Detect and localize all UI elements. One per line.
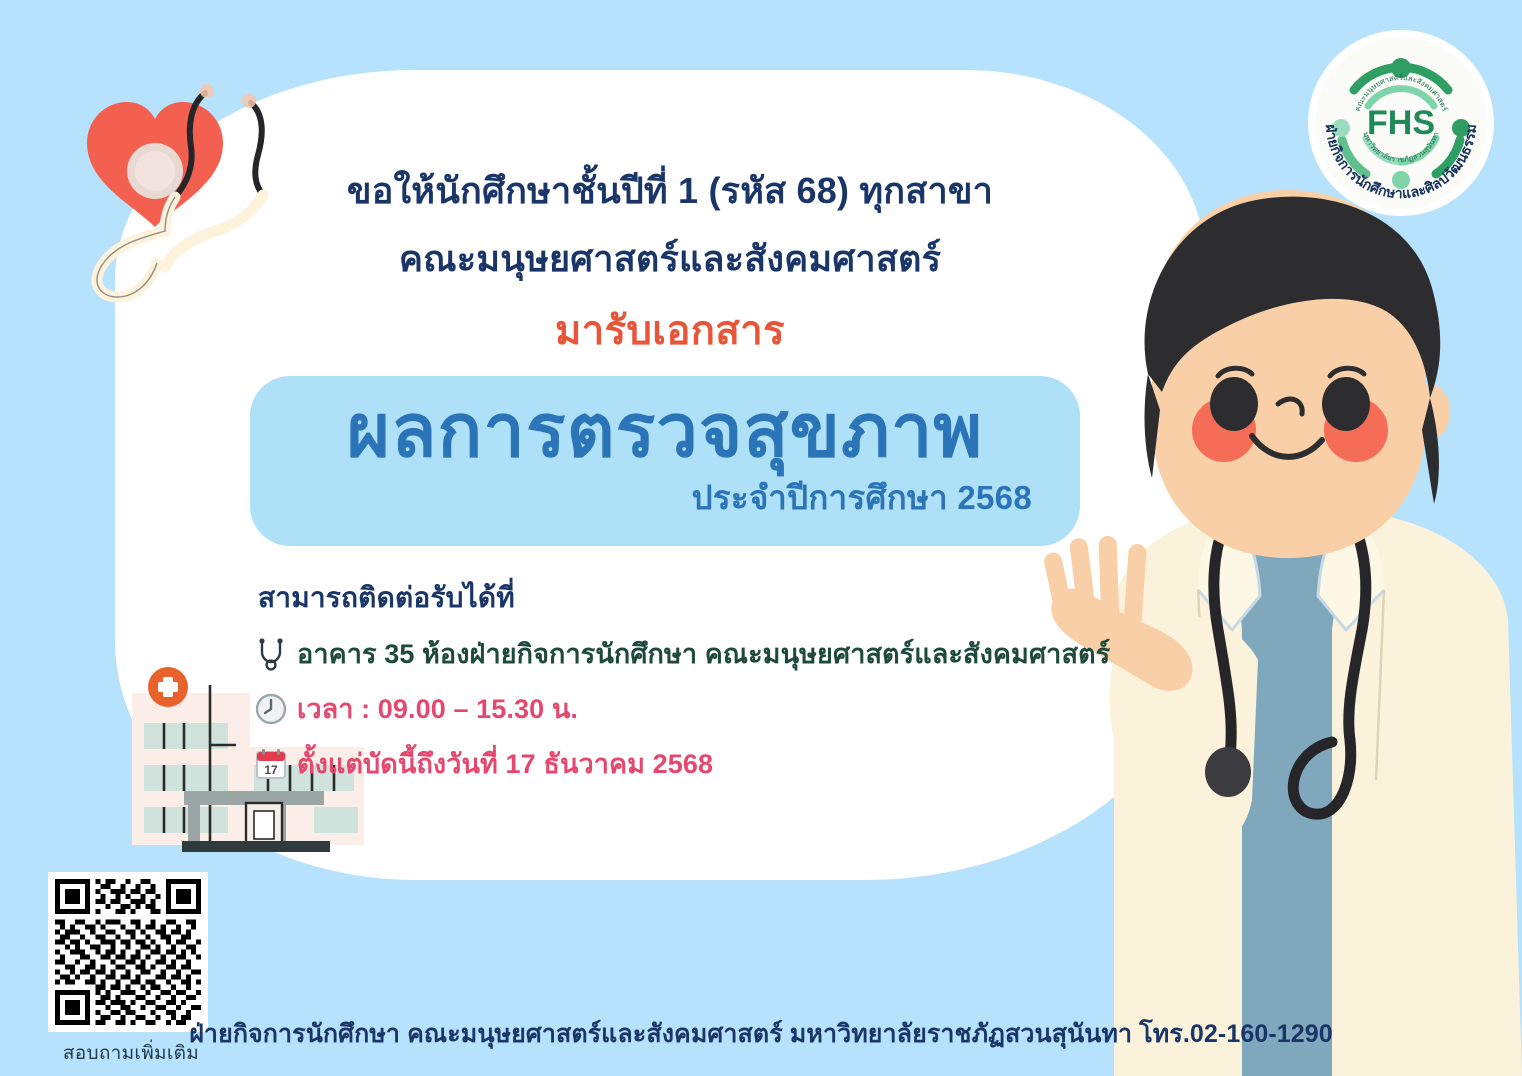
stethoscope-icon [254,637,288,671]
clock-icon [254,692,288,726]
info-time-text: เวลา : 09.00 – 15.30 น. [297,687,578,730]
footer-text: ฝ่ายกิจการนักศึกษา คณะมนุษยศาสตร์และสังค… [189,1014,1333,1054]
info-row-time: เวลา : 09.00 – 15.30 น. [250,687,1090,730]
info-row-venue: อาคาร 35 ห้องฝ่ายกิจการนักศึกษา คณะมนุษย… [250,632,1090,675]
headline-line-1: ขอให้นักศึกษาชั้นปีที่ 1 (รหัส 68) ทุกสา… [250,168,1090,214]
info-date-text: ตั้งแต่บัดนี้ถึงวันที่ 17 ธันวาคม 2568 [297,742,713,785]
info-venue-text: อาคาร 35 ห้องฝ่ายกิจการนักศึกษา คณะมนุษย… [297,632,1110,675]
headline-line-2: คณะมนุษยศาสตร์และสังคมศาสตร์ [250,236,1090,282]
calendar-icon: 17 [254,747,288,781]
headline-line-3: มารับเอกสาร [250,298,1090,362]
contact-heading: สามารถติดต่อรับได้ที่ [250,576,1090,620]
highlight-pill: ผลการตรวจสุขภาพ ประจำปีการศึกษา 2568 [250,376,1080,546]
fhs-logo: FHS คณะมนุษยศาสตร์และสังคมศาสตร์ มหาวิทย… [1306,28,1496,218]
poster-content: ขอให้นักศึกษาชั้นปีที่ 1 (รหัส 68) ทุกสา… [250,168,1090,785]
highlight-title: ผลการตรวจสุขภาพ [284,390,1046,473]
poster-canvas: สอบถามเพิ่มเติม FHS [0,0,1522,1076]
qr-code-image[interactable] [48,872,208,1032]
highlight-subtitle: ประจำปีการศึกษา 2568 [284,471,1046,524]
footer: ฝ่ายกิจการนักศึกษา คณะมนุษยศาสตร์และสังค… [0,1014,1522,1054]
fhs-abbreviation: FHS [1367,104,1435,142]
info-row-date: 17 ตั้งแต่บัดนี้ถึงวันที่ 17 ธันวาคม 256… [250,742,1090,785]
calendar-day-number: 17 [264,763,278,777]
